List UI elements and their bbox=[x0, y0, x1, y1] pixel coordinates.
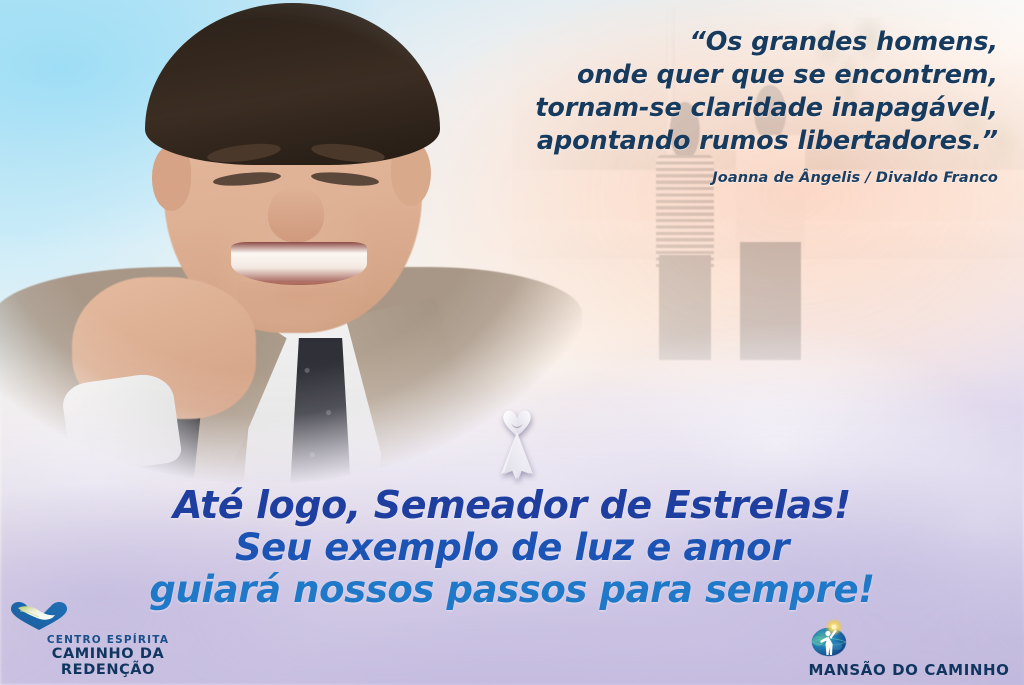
quote-block: “Os grandes homens, onde quer que se enc… bbox=[438, 26, 998, 186]
portrait-hair bbox=[145, 3, 440, 165]
quote-line-1: “Os grandes homens, bbox=[438, 26, 998, 59]
logo-left-line-2: CAMINHO DA REDENÇÃO bbox=[8, 646, 208, 679]
headline-line-2: Seu exemplo de luz e amor bbox=[0, 529, 1024, 566]
memorial-poster: “Os grandes homens, onde quer que se enc… bbox=[0, 0, 1024, 685]
quote-line-2: onde quer que se encontrem, bbox=[438, 59, 998, 92]
logo-left-line-1: CENTRO ESPÍRITA bbox=[8, 634, 208, 646]
headline-block: Até logo, Semeador de Estrelas! Seu exem… bbox=[0, 486, 1024, 608]
globe-with-figure-icon bbox=[804, 619, 1014, 659]
quote-line-4: apontando rumos libertadores.” bbox=[438, 125, 998, 158]
heart-with-hands-icon bbox=[8, 599, 208, 631]
white-memorial-ribbon-icon bbox=[487, 406, 547, 484]
logo-mansao-do-caminho: MANSÃO DO CAMINHO bbox=[804, 619, 1014, 679]
portrait-chin bbox=[238, 282, 361, 323]
headline-line-1: Até logo, Semeador de Estrelas! bbox=[0, 486, 1024, 524]
portrait-smile bbox=[231, 242, 366, 285]
quote-line-3: tornam-se claridade inapagável, bbox=[438, 92, 998, 125]
logo-centro-espirita: CENTRO ESPÍRITA CAMINHO DA REDENÇÃO bbox=[8, 599, 208, 679]
quote-attribution: Joanna de Ângelis / Divaldo Franco bbox=[438, 170, 998, 186]
logo-right-line-1: MANSÃO DO CAMINHO bbox=[804, 662, 1014, 679]
portrait-shirt-cuff bbox=[60, 371, 182, 477]
portrait-nose bbox=[268, 186, 323, 242]
